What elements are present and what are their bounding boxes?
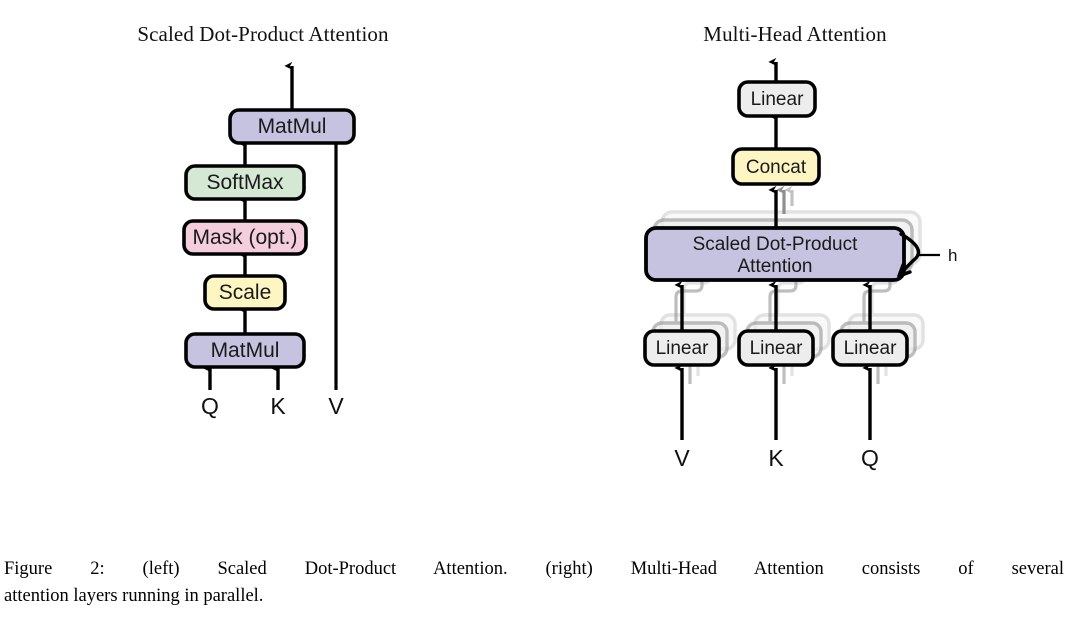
right-input-label-v: V: [674, 445, 690, 471]
right-block-label-line1: Scaled Dot-Product: [693, 234, 858, 255]
figure-caption-line-1: Figure 2: (left) Scaled Dot-Product Atte…: [4, 556, 1064, 583]
right-block-scaled-dot-product-attention: Scaled Dot-Product Attention: [646, 228, 904, 280]
multi-head-attention-diagram: Scaled Dot-Product Attention h Linear Li…: [0, 0, 1068, 540]
right-input-label-q: Q: [861, 445, 879, 471]
figure-caption: Figure 2: (left) Scaled Dot-Product Atte…: [4, 556, 1064, 610]
right-block-concat: Concat: [733, 149, 819, 184]
figure-2-root: Scaled Dot-Product Attention Multi-Head …: [0, 0, 1068, 632]
right-block-label: Linear: [751, 89, 804, 110]
right-block-label: Concat: [746, 157, 807, 178]
right-block-label: Linear: [844, 338, 897, 359]
right-block-label: Linear: [750, 338, 803, 359]
right-block-label-line2: Attention: [738, 256, 813, 277]
right-block-label: Linear: [656, 338, 709, 359]
heads-count-label: h: [948, 246, 957, 265]
right-block-linear-v: Linear: [645, 331, 719, 365]
right-block-linear-out: Linear: [739, 82, 815, 116]
right-input-label-k: K: [768, 445, 784, 471]
right-block-linear-q: Linear: [833, 331, 907, 365]
right-block-linear-k: Linear: [739, 331, 813, 365]
figure-caption-line-2: attention layers running in parallel.: [4, 583, 1064, 610]
